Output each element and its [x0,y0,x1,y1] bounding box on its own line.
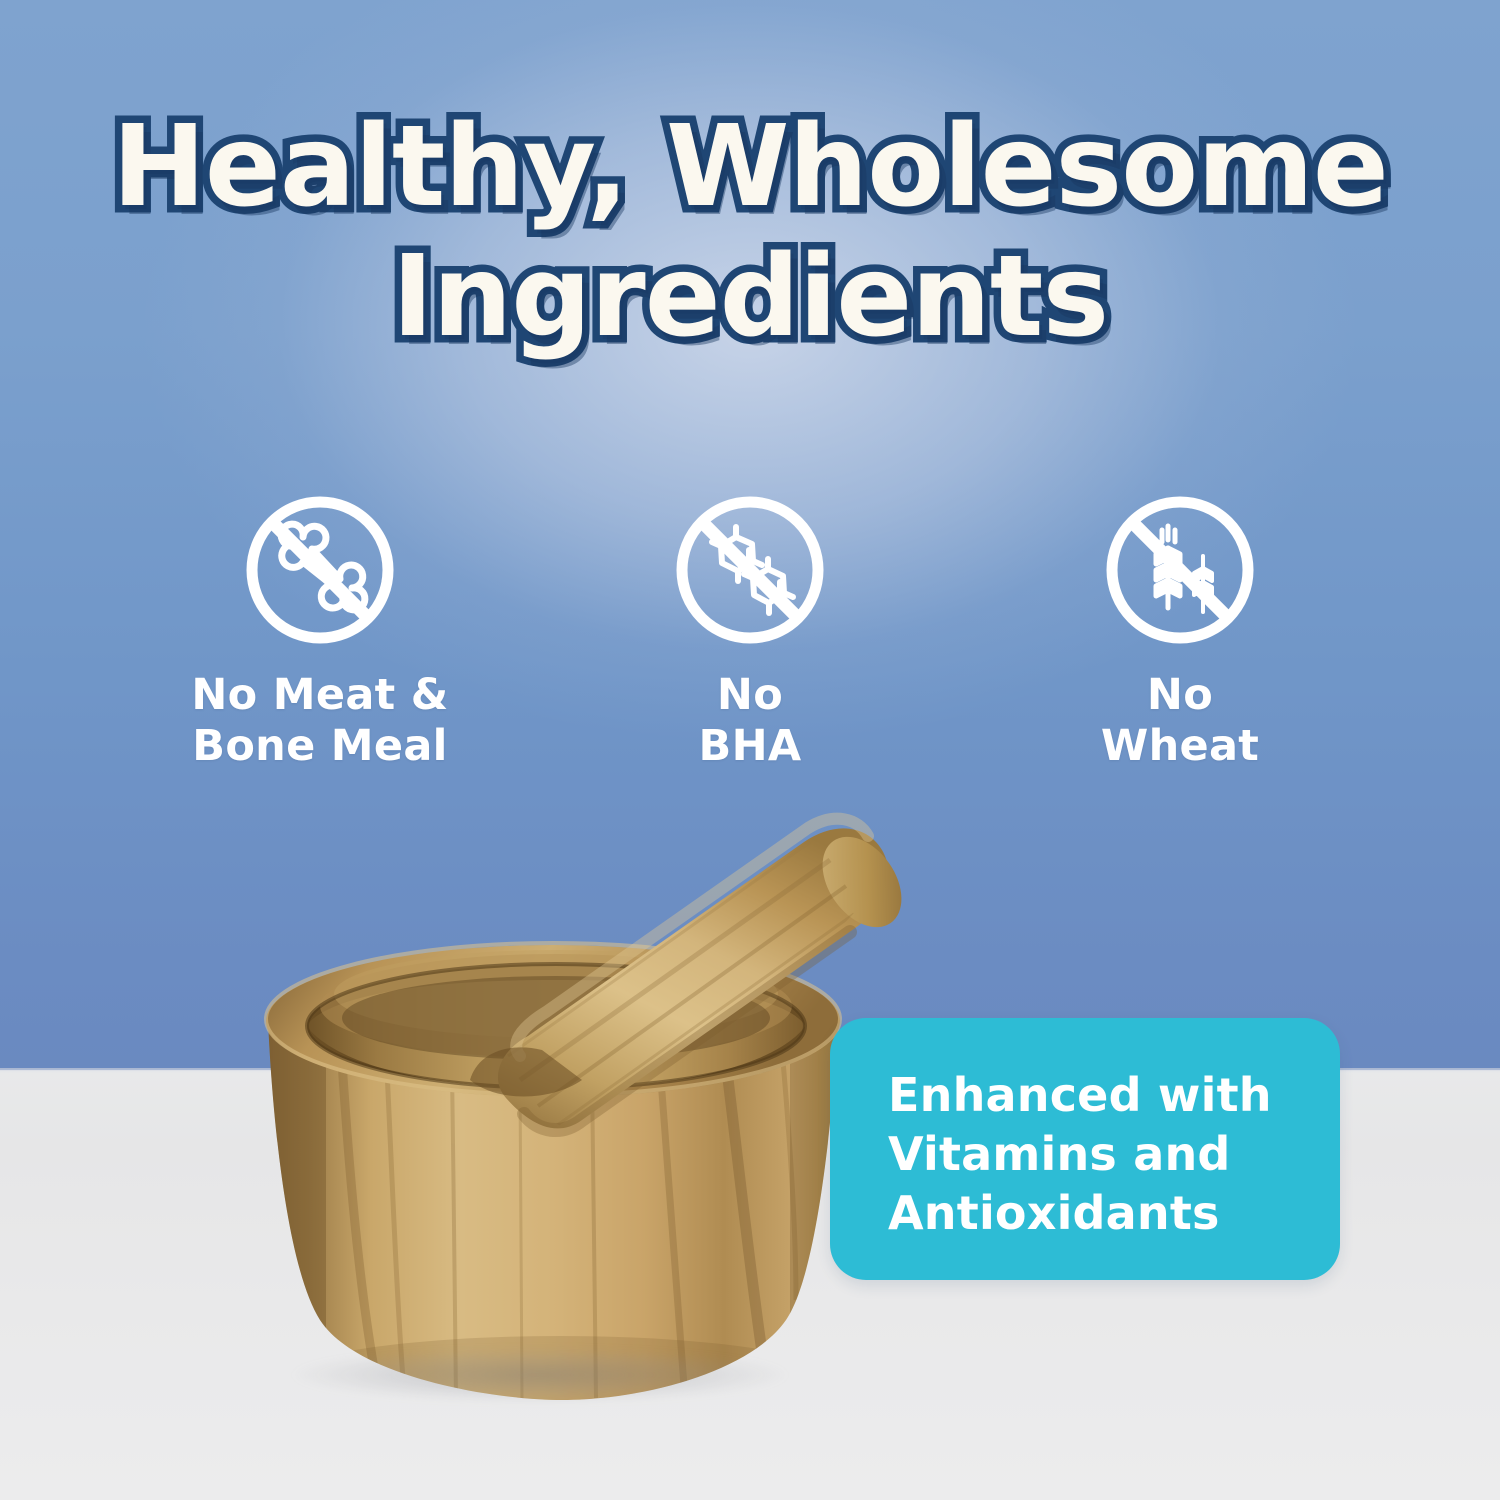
feature-label: No Wheat [1101,670,1259,771]
mortar-pestle-illustration [190,780,910,1420]
callout-enhanced-with-vitamins: Enhanced with Vitamins and Antioxidants [830,1018,1340,1280]
feature-no-wheat: No Wheat [965,490,1395,771]
feature-label: No BHA [699,670,802,771]
no-chemical-molecule-icon [670,490,830,650]
no-bone-icon [240,490,400,650]
product-photo-mortar-and-pestle [190,780,910,1420]
infographic-canvas: Healthy, Wholesome Ingredients No Meat &… [0,0,1500,1500]
feature-label: No Meat & Bone Meal [191,670,448,771]
feature-no-meat-bone-meal: No Meat & Bone Meal [105,490,535,771]
mortar-contact-shadow [220,1340,860,1410]
callout-text: Enhanced with Vitamins and Antioxidants [888,1066,1308,1243]
feature-no-bha: No BHA [535,490,965,771]
feature-badge-row: No Meat & Bone Meal [0,490,1500,771]
no-wheat-icon [1100,490,1260,650]
